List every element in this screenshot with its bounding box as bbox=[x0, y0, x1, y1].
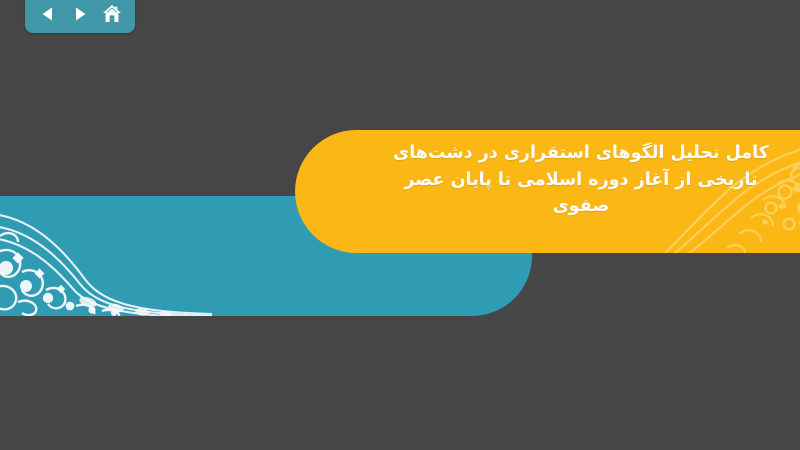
title-line-1: کامل تحلیل الگوهای استقراری در دشت‌های bbox=[315, 140, 800, 167]
triangle-left-icon bbox=[39, 5, 57, 23]
home-icon bbox=[101, 3, 123, 25]
title-line-3: صفوی bbox=[315, 193, 800, 220]
title-panel: کامل تحلیل الگوهای استقراری در دشت‌های ت… bbox=[295, 130, 800, 253]
home-button[interactable] bbox=[99, 1, 125, 27]
previous-slide-button[interactable] bbox=[35, 1, 61, 27]
slide-navigation-toolbar bbox=[25, 0, 135, 33]
arabesque-ornament-icon bbox=[0, 196, 212, 316]
next-slide-button[interactable] bbox=[67, 1, 93, 27]
slide-canvas: کامل تحلیل الگوهای استقراری در دشت‌های ت… bbox=[0, 0, 800, 450]
title-line-2: تاریخی از آغاز دوره اسلامی تا پایان عصر bbox=[315, 167, 800, 194]
slide-title: کامل تحلیل الگوهای استقراری در دشت‌های ت… bbox=[315, 140, 800, 220]
triangle-right-icon bbox=[71, 5, 89, 23]
